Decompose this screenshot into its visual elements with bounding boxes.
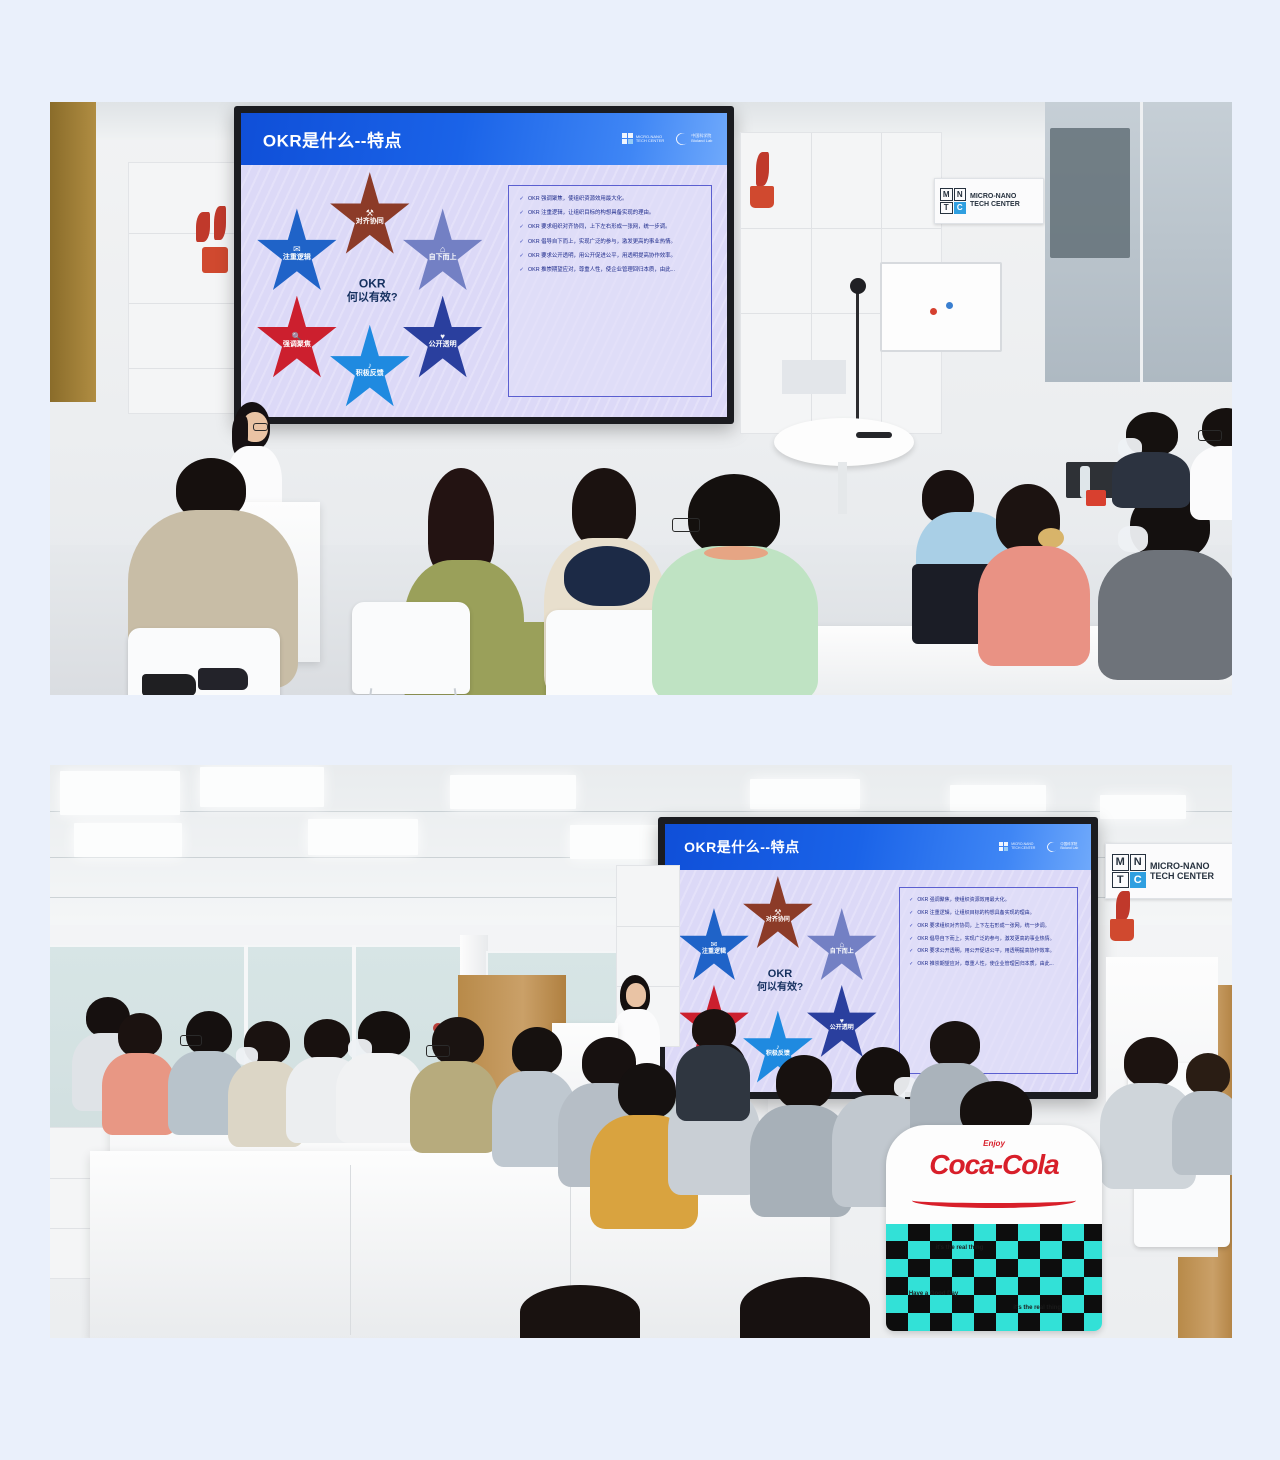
photo-bottom: OKR是什么--特点 MICRO-NANO TECH CENTER xyxy=(50,765,1232,1338)
ceiling-led-panel xyxy=(1100,795,1186,819)
mntc-sign-text: MICRO-NANO TECH CENTER xyxy=(970,193,1020,209)
list-item: ✓ OKR 注重逻辑，让组织目标的构想具备实现的理由。 xyxy=(909,910,1068,917)
pot-right-bottom xyxy=(1110,919,1134,941)
tools-icon: ⚒ xyxy=(366,209,374,218)
torso xyxy=(676,1045,750,1121)
mail-icon: ✉ xyxy=(293,245,301,254)
bullet-text: OKR 注重逻辑，让组织目标的构想具备实现的理由。 xyxy=(917,910,1034,917)
star-label: 自下而上 xyxy=(830,949,854,955)
window-dark-panel xyxy=(1050,128,1130,258)
search-icon: 🔍 xyxy=(292,333,302,341)
slide-header: OKR是什么--特点 MICRO-NANO TECH CENTER xyxy=(241,113,727,165)
list-item: ✓ OKR 注重逻辑，让组织目标的构想具备实现的理由。 xyxy=(519,210,701,218)
presenter-glasses xyxy=(253,423,268,431)
center-line-1: OKR xyxy=(347,276,398,291)
window-mullion xyxy=(1140,102,1143,382)
star-label: 自下而上 xyxy=(429,254,457,261)
list-item: ✓ OKR 推崇期望应对，尊重人性，使企业管理回归本质，由此... xyxy=(909,961,1068,968)
star-label: 公开透明 xyxy=(429,341,457,348)
flower-right-bottom xyxy=(1116,891,1130,921)
chair[interactable] xyxy=(352,602,470,694)
ceiling-led-panel xyxy=(950,785,1046,811)
note-icon: ♪ xyxy=(776,1044,780,1051)
bullet-text: OKR 要求公开透明，用公开促进公平，用透明提高协作效率。 xyxy=(528,253,676,261)
check-icon: ✓ xyxy=(909,897,913,904)
micro-nano-tech-center-logo: MICRO-NANO TECH CENTER xyxy=(999,842,1035,851)
ceiling-led-panel xyxy=(200,767,324,807)
coca-cola-tagline: it's the real thing xyxy=(936,1245,984,1251)
list-item: ✓ OKR 倡导自下而上，实现广泛的参与，激发更高的事业热情。 xyxy=(909,936,1068,943)
audience-member xyxy=(102,1013,176,1133)
flower-pot-right xyxy=(750,186,774,208)
mntc-sign-text: MICRO-NANO TECH CENTER xyxy=(1150,861,1214,881)
audience-member xyxy=(1190,408,1232,518)
mntc-logo-grid: M N T C xyxy=(940,188,966,214)
coca-cola-tagline-3: it's the real thing xyxy=(1013,1305,1061,1311)
foreground-head-2 xyxy=(740,1277,870,1338)
home-icon: ⌂ xyxy=(839,941,844,949)
coca-cola-script: Coca-Cola xyxy=(929,1149,1058,1181)
microphone-stand xyxy=(856,290,859,422)
round-table xyxy=(774,418,914,466)
slide-logos: MICRO-NANO TECH CENTER 中国科学院 Bioland Lab xyxy=(622,133,713,145)
star-center-caption-bottom: OKR 何以有效? xyxy=(757,968,803,994)
star-logic: ✉ 注重逻辑 xyxy=(256,208,339,298)
wall-sign-mntc-top: M N T C MICRO-NANO TECH CENTER xyxy=(934,178,1044,224)
shelf-books xyxy=(782,360,846,394)
presenter-head xyxy=(626,983,646,1007)
star-bottom-up: ⌂ 自下而上 xyxy=(806,908,878,987)
check-icon: ✓ xyxy=(909,936,913,943)
bullet-list: ✓ OKR 强调聚焦，使组织资源效用最大化。 ✓ OKR 注重逻辑，让组织目标的… xyxy=(509,186,711,275)
star-transparent: ♥ 公开透明 xyxy=(401,296,484,386)
audience-member xyxy=(652,474,818,695)
check-icon: ✓ xyxy=(909,948,913,955)
bullet-text: OKR 倡导自下而上，实现广泛的参与，激发更高的事业热情。 xyxy=(917,936,1054,943)
ceiling-led-panel xyxy=(308,819,418,855)
audience-member xyxy=(1172,1053,1232,1173)
star-focus: 🔍 强调聚焦 xyxy=(256,296,339,386)
bullet-text: OKR 要求组织对齐协同，上下左右形成一张网，统一步调。 xyxy=(917,923,1049,930)
whiteboard xyxy=(880,262,1002,352)
center-line-1: OKR xyxy=(757,968,803,982)
list-item: ✓ OKR 要求公开透明，用公开促进公平，用透明提高协作效率。 xyxy=(909,948,1068,955)
mntc-letter-n: N xyxy=(1130,854,1147,871)
audience-member xyxy=(1112,412,1190,504)
bullet-text: OKR 倡导自下而上，实现广泛的参与，激发更高的事业热情。 xyxy=(528,239,676,247)
mntc-letter-n: N xyxy=(954,188,967,201)
micro-nano-tech-center-logo: MICRO-NANO TECH CENTER xyxy=(622,133,664,144)
heart-icon: ♥ xyxy=(440,333,445,341)
mail-icon: ✉ xyxy=(711,941,718,949)
hair xyxy=(776,1055,832,1109)
hair xyxy=(432,1017,484,1065)
home-icon: ⌂ xyxy=(440,245,445,254)
microphone-head xyxy=(850,278,866,294)
star-label: 注重逻辑 xyxy=(283,254,311,261)
coca-cola-tagline-2: Have a Good Day xyxy=(909,1291,958,1297)
tools-icon: ⚒ xyxy=(774,909,781,917)
check-icon: ✓ xyxy=(909,961,913,968)
mntc-letter-t: T xyxy=(940,202,953,215)
audience-member xyxy=(978,484,1090,666)
slide-title: OKR是什么--特点 xyxy=(263,126,402,151)
mntc-logo-grid: M N T C xyxy=(1112,854,1146,888)
partner-lab-logo: 中国科学院 Bioland Lab xyxy=(1047,842,1078,852)
flower-left xyxy=(196,212,210,242)
audience-member-coca-cola: Enjoy Coca-Cola it's the real thing Have… xyxy=(886,1081,1102,1331)
torso xyxy=(652,546,818,695)
face-mask xyxy=(1118,526,1148,552)
hair xyxy=(688,474,780,556)
star-label: 公开透明 xyxy=(830,1025,854,1031)
foreground-head xyxy=(520,1285,640,1338)
hair xyxy=(692,1009,736,1049)
glasses xyxy=(180,1035,202,1046)
mntc-letter-m: M xyxy=(940,188,953,201)
star-align-collaborate: ⚒ 对齐协同 xyxy=(742,876,814,955)
flower-left-2 xyxy=(214,206,226,240)
check-icon: ✓ xyxy=(519,239,524,247)
sneaker-2 xyxy=(198,668,248,690)
hair xyxy=(572,468,636,548)
ceiling-grid-line xyxy=(50,811,1232,812)
list-item: ✓ OKR 要求公开透明，用公开促进公平，用透明提高协作效率。 xyxy=(519,253,701,261)
star-center-caption: OKR 何以有效? xyxy=(347,276,398,305)
slide-header-bottom: OKR是什么--特点 MICRO-NANO TECH CENTER xyxy=(665,824,1091,870)
scarf xyxy=(564,546,650,606)
glasses xyxy=(1198,430,1222,441)
hair xyxy=(512,1027,562,1075)
star-feedback: ♪ 积极反馈 xyxy=(328,325,411,415)
slide-title-bottom: OKR是什么--特点 xyxy=(684,837,799,857)
coca-cola-swoosh xyxy=(912,1193,1076,1208)
check-icon: ✓ xyxy=(519,210,524,218)
hair xyxy=(186,1011,232,1055)
logo-line2: TECH CENTER xyxy=(636,139,664,143)
slide-logos-bottom: MICRO-NANO TECH CENTER 中国科学院 Bioland Lab xyxy=(999,842,1078,852)
star-diagram: ⚒ 对齐协同 ✉ 注重逻辑 ⌂ 自下而上 xyxy=(251,170,494,412)
glasses xyxy=(426,1045,450,1057)
denim-jacket xyxy=(1098,550,1232,680)
flower-right xyxy=(756,152,769,186)
check-icon: ✓ xyxy=(909,923,913,930)
coca-cola-enjoy-text: Enjoy xyxy=(983,1139,1005,1148)
bullet-panel: ✓ OKR 强调聚焦，使组织资源效用最大化。 ✓ OKR 注重逻辑，让组织目标的… xyxy=(508,185,712,397)
list-item: ✓ OKR 倡导自下而上，实现广泛的参与，激发更高的事业热情。 xyxy=(519,239,701,247)
whiteboard-magnet-blue xyxy=(946,302,953,309)
checkerboard-pattern xyxy=(886,1224,1102,1331)
mntc-letter-c: C xyxy=(954,202,967,215)
bullet-text: OKR 推崇期望应对，尊重人性，使企业管理回归本质，由此... xyxy=(528,267,675,275)
mntc-letter-m: M xyxy=(1112,854,1129,871)
list-item: ✓ OKR 要求组织对齐协同，上下左右形成一张网，统一步调。 xyxy=(519,224,701,232)
ceiling-led-panel xyxy=(60,771,180,815)
photo-top: OKR是什么--特点 MICRO-NANO TECH CENTER xyxy=(50,102,1232,695)
flower-pot-left xyxy=(202,247,228,273)
collar xyxy=(704,546,768,560)
hair xyxy=(1202,408,1232,448)
hair xyxy=(1124,1037,1178,1087)
chair[interactable] xyxy=(546,610,666,695)
bullet-text: OKR 要求组织对齐协同，上下左右形成一张网，统一步调。 xyxy=(528,224,671,232)
partner-logo-line2: Bioland Lab xyxy=(1060,847,1078,851)
torso xyxy=(1172,1091,1232,1175)
wood-frame-left xyxy=(50,102,96,402)
check-icon: ✓ xyxy=(519,196,524,204)
check-icon: ✓ xyxy=(519,267,524,275)
hair-clip xyxy=(1038,528,1064,548)
photo-collage-page: OKR是什么--特点 MICRO-NANO TECH CENTER xyxy=(0,0,1280,1460)
star-label: 积极反馈 xyxy=(356,370,384,377)
slide-body: ⚒ 对齐协同 ✉ 注重逻辑 ⌂ 自下而上 xyxy=(241,165,727,417)
star-label: 对齐协同 xyxy=(356,218,384,225)
star-bottom-up: ⌂ 自下而上 xyxy=(401,208,484,298)
partner-logo-line2: Bioland Lab xyxy=(691,139,712,143)
ceiling-led-panel xyxy=(450,775,576,809)
list-item: ✓ OKR 要求组织对齐协同，上下左右形成一张网，统一步调。 xyxy=(909,923,1068,930)
logo-line2: TECH CENTER xyxy=(1011,847,1035,851)
ceiling-led-panel xyxy=(750,779,860,809)
mntc-letter-c: C xyxy=(1130,872,1147,889)
glasses xyxy=(672,518,700,532)
center-line-2: 何以有效? xyxy=(347,291,398,305)
display-panel: OKR是什么--特点 MICRO-NANO TECH CENTER xyxy=(241,113,727,417)
center-line-2: 何以有效? xyxy=(757,981,803,994)
audience-member xyxy=(410,1017,498,1153)
ceiling-led-panel xyxy=(74,823,182,857)
check-icon: ✓ xyxy=(519,253,524,261)
torso xyxy=(978,546,1090,666)
audience-member xyxy=(676,1009,750,1119)
star-logic: ✉ 注重逻辑 xyxy=(678,908,750,987)
bullet-list-bottom: ✓ OKR 强调聚焦，使组织资源效用最大化。 ✓ OKR 注重逻辑，让组织目标的… xyxy=(900,888,1077,968)
partner-lab-logo: 中国科学院 Bioland Lab xyxy=(676,133,712,145)
remote-control xyxy=(856,432,892,438)
check-icon: ✓ xyxy=(909,910,913,917)
note-icon: ♪ xyxy=(368,362,372,370)
wall-display[interactable]: OKR是什么--特点 MICRO-NANO TECH CENTER xyxy=(234,106,734,424)
heart-icon: ♥ xyxy=(840,1018,844,1025)
torso xyxy=(1190,446,1232,520)
mntc-line1: MICRO-NANO xyxy=(970,193,1020,201)
bullet-text: OKR 注重逻辑，让组织目标的构想具备实现的理由。 xyxy=(528,210,654,218)
coca-cola-jacket: Enjoy Coca-Cola it's the real thing Have… xyxy=(886,1125,1102,1331)
hair xyxy=(930,1021,980,1067)
hair xyxy=(1186,1053,1230,1095)
sneaker xyxy=(142,674,196,695)
torso xyxy=(102,1053,176,1135)
mntc-line2: TECH CENTER xyxy=(970,201,1020,209)
list-item: ✓ OKR 强调聚焦，使组织资源效用最大化。 xyxy=(909,897,1068,904)
torso xyxy=(410,1061,498,1153)
bullet-text: OKR 推崇期望应对，尊重人性，使企业管理回归本质，由此... xyxy=(917,961,1053,968)
list-item: ✓ OKR 推崇期望应对，尊重人性，使企业管理回归本质，由此... xyxy=(519,267,701,275)
mntc-line1: MICRO-NANO xyxy=(1150,861,1214,871)
slide-okr-features-top: OKR是什么--特点 MICRO-NANO TECH CENTER xyxy=(241,113,727,417)
mntc-line2: TECH CENTER xyxy=(1150,871,1214,881)
counter-seam xyxy=(350,1165,351,1335)
list-item: ✓ OKR 强调聚焦，使组织资源效用最大化。 xyxy=(519,196,701,204)
bullet-text: OKR 强调聚焦，使组织资源效用最大化。 xyxy=(917,897,1009,904)
whiteboard-magnet-red xyxy=(930,308,937,315)
check-icon: ✓ xyxy=(519,224,524,232)
star-label: 强调聚焦 xyxy=(283,341,311,348)
star-label: 注重逻辑 xyxy=(702,949,726,955)
hair xyxy=(118,1013,162,1057)
mntc-letter-t: T xyxy=(1112,872,1129,889)
bullet-text: OKR 要求公开透明，用公开促进公平，用透明提高协作效率。 xyxy=(917,948,1054,955)
table-leg xyxy=(838,462,847,514)
torso xyxy=(1112,452,1190,508)
star-align-collaborate: ⚒ 对齐协同 xyxy=(328,172,411,262)
star-label: 对齐协同 xyxy=(766,917,790,923)
bullet-text: OKR 强调聚焦，使组织资源效用最大化。 xyxy=(528,196,627,204)
shelf-left xyxy=(128,162,242,414)
